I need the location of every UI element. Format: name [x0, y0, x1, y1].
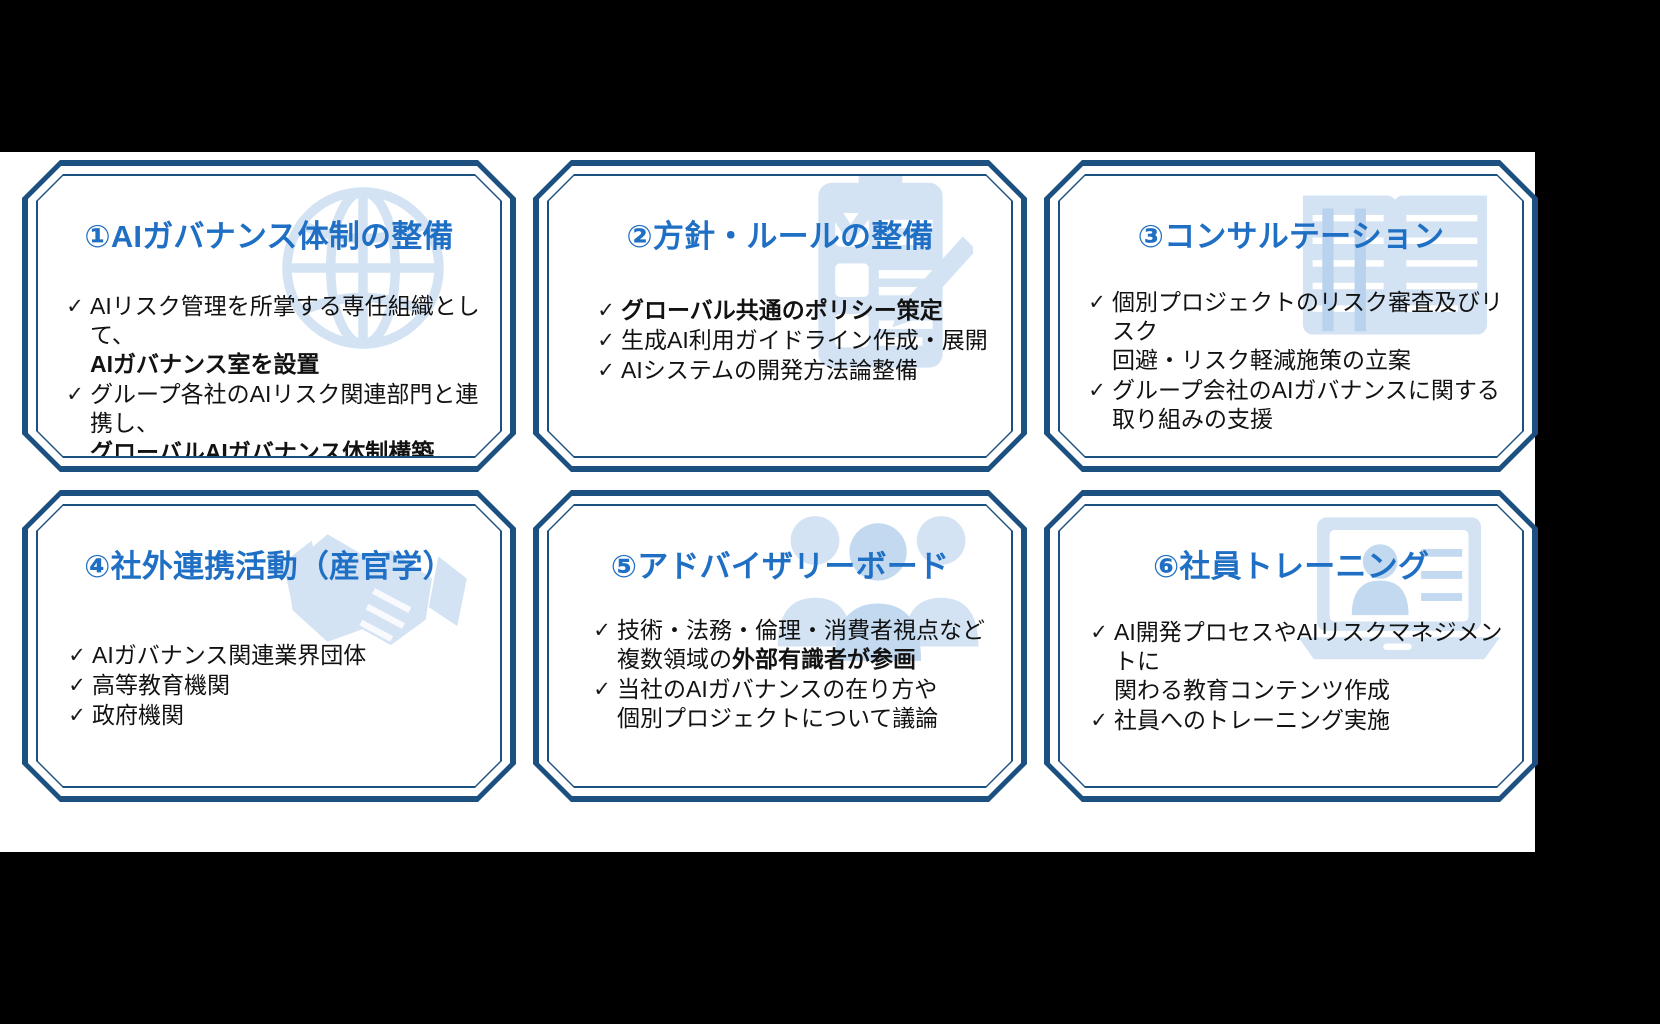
list-item-text: 生成AI利用ガイドライン作成・展開 [621, 326, 988, 355]
list-item-text: 社員へのトレーニング実施 [1114, 706, 1390, 735]
list-item-text: AIガバナンス関連業界団体 [92, 641, 366, 670]
check-icon: ✓ [587, 675, 617, 704]
list-item: ✓ 生成AI利用ガイドライン作成・展開 [591, 326, 1001, 355]
card-2-bullets: ✓ グローバル共通のポリシー策定 ✓ 生成AI利用ガイドライン作成・展開 ✓ A… [591, 296, 1001, 386]
card-1-face: ①AIガバナンス体制の整備 ✓ AIリスク管理を所掌する専任組織として、AIガバ… [38, 176, 500, 456]
check-icon: ✓ [60, 292, 90, 321]
list-item: ✓ AIリスク管理を所掌する専任組織として、AIガバナンス室を設置 [60, 292, 490, 379]
card-5-face: ⑤アドバイザリーボード ✓ 技術・法務・倫理・消費者視点など 複数領域の外部有識… [549, 506, 1011, 786]
list-item: ✓ グループ各社のAIリスク関連部門と連携し、グローバルAIガバナンス体制構築 [60, 380, 490, 456]
card-4-face: ④社外連携活動（産官学） ✓ AIガバナンス関連業界団体 ✓ 高等教育機関 ✓ … [38, 506, 500, 786]
card-4[interactable]: ④社外連携活動（産官学） ✓ AIガバナンス関連業界団体 ✓ 高等教育機関 ✓ … [22, 490, 516, 802]
list-item-text: グループ各社のAIリスク関連部門と連携し、グローバルAIガバナンス体制構築 [90, 380, 490, 456]
list-item: ✓ 高等教育機関 [62, 671, 490, 700]
list-item-text: 当社のAIガバナンスの在り方や 個別プロジェクトについて議論 [617, 675, 938, 733]
card-5-bullets: ✓ 技術・法務・倫理・消費者視点など 複数領域の外部有識者が参画 ✓ 当社のAI… [587, 616, 1001, 734]
check-icon: ✓ [587, 616, 617, 645]
list-item: ✓ AI開発プロセスやAIリスクマネジメントに 関わる教育コンテンツ作成 [1084, 618, 1512, 705]
list-item-text: 高等教育機関 [92, 671, 230, 700]
list-item-text: 政府機関 [92, 701, 184, 730]
check-icon: ✓ [62, 701, 92, 730]
list-item-text: 技術・法務・倫理・消費者視点など 複数領域の外部有識者が参画 [617, 616, 985, 674]
card-3-bullets: ✓ 個別プロジェクトのリスク審査及びリスク 回避・リスク軽減施策の立案 ✓ グル… [1082, 288, 1512, 435]
list-item: ✓ 政府機関 [62, 701, 490, 730]
list-item-text: AIリスク管理を所掌する専任組織として、AIガバナンス室を設置 [90, 292, 490, 379]
card-4-bullets: ✓ AIガバナンス関連業界団体 ✓ 高等教育機関 ✓ 政府機関 [62, 641, 490, 731]
card-4-title: ④社外連携活動（産官学） [38, 550, 500, 584]
card-2-title: ②方針・ルールの整備 [549, 220, 1011, 254]
list-item: ✓ 技術・法務・倫理・消費者視点など 複数領域の外部有識者が参画 [587, 616, 1001, 674]
card-1[interactable]: ①AIガバナンス体制の整備 ✓ AIリスク管理を所掌する専任組織として、AIガバ… [22, 160, 516, 472]
list-item: ✓ 当社のAIガバナンスの在り方や 個別プロジェクトについて議論 [587, 675, 1001, 733]
card-5[interactable]: ⑤アドバイザリーボード ✓ 技術・法務・倫理・消費者視点など 複数領域の外部有識… [533, 490, 1027, 802]
card-6[interactable]: ⑥社員トレーニング ✓ AI開発プロセスやAIリスクマネジメントに 関わる教育コ… [1044, 490, 1538, 802]
card-6-bullets: ✓ AI開発プロセスやAIリスクマネジメントに 関わる教育コンテンツ作成 ✓ 社… [1084, 618, 1512, 736]
list-item: ✓ AIシステムの開発方法論整備 [591, 356, 1001, 385]
check-icon: ✓ [1082, 288, 1112, 317]
governance-card-grid: ①AIガバナンス体制の整備 ✓ AIリスク管理を所掌する専任組織として、AIガバ… [0, 152, 1535, 852]
check-icon: ✓ [1084, 706, 1114, 735]
list-item-text: グローバル共通のポリシー策定 [621, 296, 943, 325]
check-icon: ✓ [62, 641, 92, 670]
card-6-face: ⑥社員トレーニング ✓ AI開発プロセスやAIリスクマネジメントに 関わる教育コ… [1060, 506, 1522, 786]
check-icon: ✓ [1084, 618, 1114, 647]
card-1-bullets: ✓ AIリスク管理を所掌する専任組織として、AIガバナンス室を設置 ✓ グループ… [60, 292, 490, 456]
check-icon: ✓ [62, 671, 92, 700]
list-item: ✓ AIガバナンス関連業界団体 [62, 641, 490, 670]
list-item: ✓ 個別プロジェクトのリスク審査及びリスク 回避・リスク軽減施策の立案 [1082, 288, 1512, 375]
card-3-title: ③コンサルテーション [1060, 220, 1522, 254]
list-item: ✓ 社員へのトレーニング実施 [1084, 706, 1512, 735]
list-item-text: AIシステムの開発方法論整備 [621, 356, 918, 385]
list-item-text: グループ会社のAIガバナンスに関する 取り組みの支援 [1112, 376, 1500, 434]
check-icon: ✓ [591, 356, 621, 385]
list-item: ✓ グループ会社のAIガバナンスに関する 取り組みの支援 [1082, 376, 1512, 434]
list-item: ✓ グローバル共通のポリシー策定 [591, 296, 1001, 325]
check-icon: ✓ [591, 326, 621, 355]
check-icon: ✓ [591, 296, 621, 325]
card-5-title: ⑤アドバイザリーボード [549, 550, 1011, 584]
card-6-title: ⑥社員トレーニング [1060, 550, 1522, 584]
list-item-text: 個別プロジェクトのリスク審査及びリスク 回避・リスク軽減施策の立案 [1112, 288, 1512, 375]
card-3[interactable]: ③コンサルテーション ✓ 個別プロジェクトのリスク審査及びリスク 回避・リスク軽… [1044, 160, 1538, 472]
card-2[interactable]: ②方針・ルールの整備 ✓ グローバル共通のポリシー策定 ✓ 生成AI利用ガイドラ… [533, 160, 1027, 472]
list-item-text: AI開発プロセスやAIリスクマネジメントに 関わる教育コンテンツ作成 [1114, 618, 1512, 705]
card-3-face: ③コンサルテーション ✓ 個別プロジェクトのリスク審査及びリスク 回避・リスク軽… [1060, 176, 1522, 456]
card-1-title: ①AIガバナンス体制の整備 [38, 220, 500, 254]
check-icon: ✓ [1082, 376, 1112, 405]
card-2-face: ②方針・ルールの整備 ✓ グローバル共通のポリシー策定 ✓ 生成AI利用ガイドラ… [549, 176, 1011, 456]
check-icon: ✓ [60, 380, 90, 409]
slide-canvas: ①AIガバナンス体制の整備 ✓ AIリスク管理を所掌する専任組織として、AIガバ… [0, 152, 1535, 852]
